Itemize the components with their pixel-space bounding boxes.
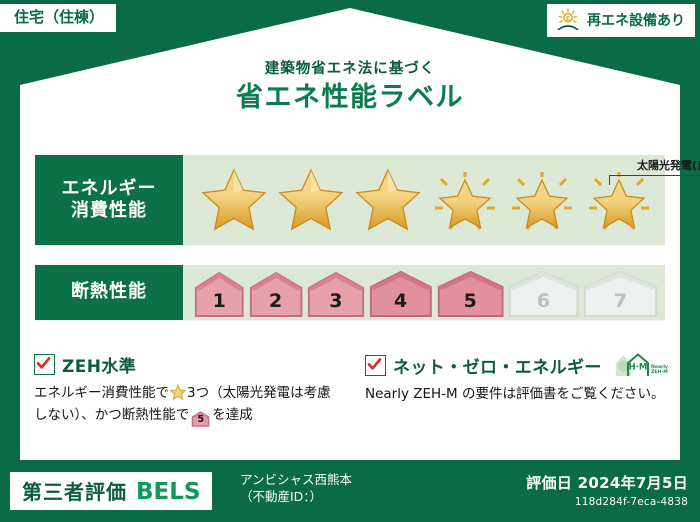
nze-heading: ネット・ゼロ・エネルギー H·M Nearly ZEH-M [365,352,675,378]
bels-energy-label: 住宅（住棟） E 再エネ設備あり 建築物省エネ法に基づ [0,0,700,522]
footer-bar: 第三者評価 BELS アンビシャス西熊本 （不動産ID：） 評価日 2024年7… [0,464,700,522]
insulation-level-5: 5 [436,270,505,317]
star-3 [351,163,425,237]
insulation-level-1: 1 [193,270,246,317]
insulation-level-3: 3 [306,270,366,317]
svg-text:H·M: H·M [628,363,647,373]
nearly-zeh-m-logo-icon: H·M Nearly ZEH-M [614,352,668,378]
insulation-level-4: 4 [368,270,434,317]
insulation-level-7: 7 [582,270,659,317]
inline-star-icon [170,384,186,400]
property-realestate-id: （不動産ID：） [240,489,352,506]
label-title-block: 建築物省エネ法に基づく 省エネ性能ラベル [0,62,700,113]
evaluation-info-block: 評価日 2024年7月5日 118d284f-7eca-4838 [526,472,688,508]
property-name-block: アンビシャス西熊本 （不動産ID：） [240,472,352,506]
evaluation-id: 118d284f-7eca-4838 [526,496,688,508]
insulation-performance-label: 断熱性能 [35,265,183,320]
zeh-heading: ZEH水準 [34,352,344,377]
star-1 [197,163,271,237]
star-rating [191,155,665,245]
zeh-text-1: エネルギー消費性能で [34,385,169,401]
bels-en-label: BELS [136,479,200,505]
star-6-solar [582,163,656,237]
svg-text:ZEH-M: ZEH-M [651,369,668,375]
zeh-star-count: 3つ [187,385,209,401]
star-4-solar [428,163,502,237]
insulation-level-scale: 1 2 3 [193,268,659,317]
energy-performance-label: エネルギー 消費性能 [35,155,183,245]
nze-description: Nearly ZEH-M の要件は評価書をご覧ください。 [365,384,675,406]
insulation-performance-row: 断熱性能 1 2 [35,265,665,320]
nze-title: ネット・ゼロ・エネルギー [393,353,602,378]
insulation-level-2: 2 [248,270,304,317]
zeh-text-3: を達成 [212,407,253,423]
renewable-energy-badge: E 再エネ設備あり [547,4,695,37]
star-2 [274,163,348,237]
bels-certification-badge: 第三者評価 BELS [10,472,212,510]
zeh-title: ZEH水準 [62,352,136,377]
zeh-checkbox-checked-icon [34,354,55,375]
energy-stars-area: 太陽光発電(自家消費)分 [183,155,665,245]
bels-jp-label: 第三者評価 [22,476,127,505]
net-zero-energy-block: ネット・ゼロ・エネルギー H·M Nearly ZEH-M Nearly ZEH… [365,352,675,406]
building-type-label: 住宅（住棟） [14,8,104,26]
page-title: 省エネ性能ラベル [0,83,700,113]
property-name: アンビシャス西熊本 [240,472,352,489]
star-5-solar [505,163,579,237]
svg-text:E: E [566,16,570,23]
title-subtitle: 建築物省エネ法に基づく [0,62,700,78]
insulation-level-6: 6 [507,270,580,317]
zeh-description: エネルギー消費性能で3つ（太陽光発電は考慮しない）、かつ断熱性能で5を達成 [34,383,344,427]
zeh-standard-block: ZEH水準 エネルギー消費性能で3つ（太陽光発電は考慮しない）、かつ断熱性能で5… [34,352,344,427]
renewable-energy-label: 再エネ設備あり [587,10,685,30]
sun-solar-icon: E [555,8,581,32]
insulation-scale-area: 1 2 3 [183,265,665,320]
building-type-badge: 住宅（住棟） [0,4,116,32]
nze-checkbox-checked-icon [365,355,386,376]
energy-performance-row: エネルギー 消費性能 [35,155,665,245]
inline-house-badge-icon: 5 [191,411,210,427]
evaluation-date: 評価日 2024年7月5日 [526,472,688,493]
